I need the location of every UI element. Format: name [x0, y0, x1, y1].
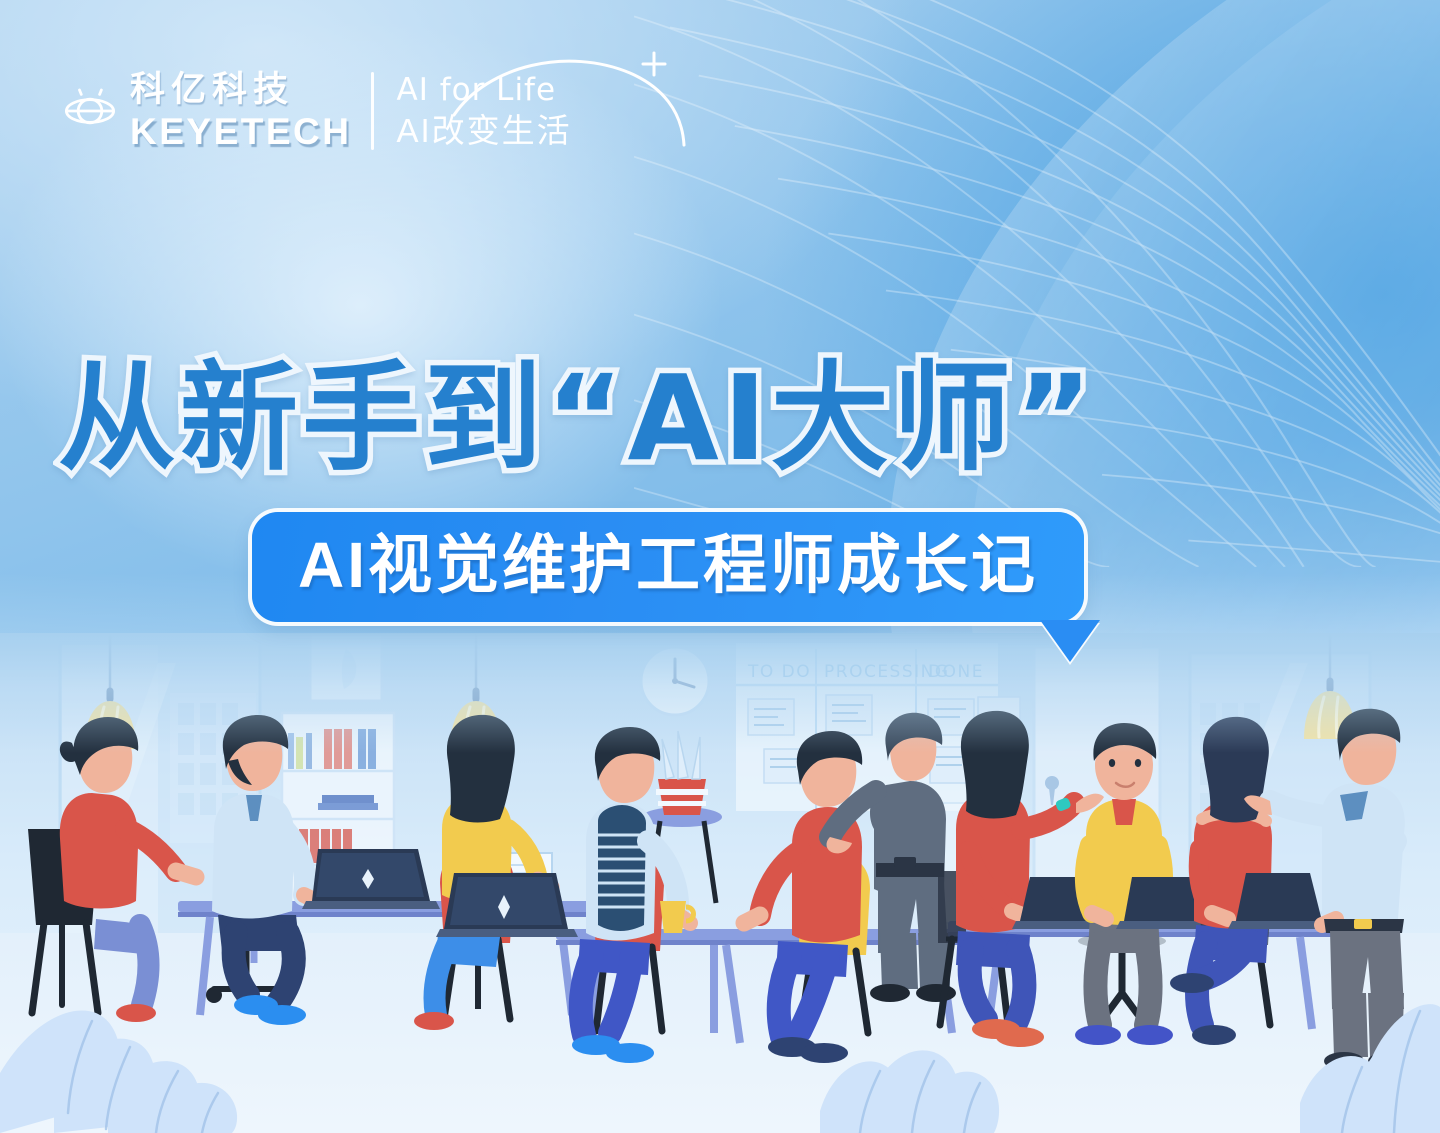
poster-canvas: 科亿科技 KEYETECH AI for Life AI改变生活 从新手到“AI…: [0, 0, 1440, 1133]
svg-text:DONE: DONE: [928, 662, 984, 682]
brand-wordmark: 科亿科技 KEYETECH: [130, 72, 351, 150]
tagline-cn: AI改变生活: [396, 113, 571, 149]
subtitle-banner-wrap: AI视觉维护工程师成长记: [252, 512, 1084, 622]
subtitle-banner-tail: [1040, 620, 1100, 662]
brand-name-en: KEYETECH: [130, 113, 351, 150]
laptop: [302, 849, 440, 909]
brand-divider: [371, 72, 374, 150]
tagline-en: AI for Life: [396, 73, 571, 107]
page-title: 从新手到“AI大师”: [58, 322, 1096, 493]
framed-picture: [310, 633, 382, 701]
svg-text:TO DO: TO DO: [747, 662, 811, 682]
brand-tagline: AI for Life AI改变生活: [396, 73, 571, 149]
brand-name-cn: 科亿科技: [130, 72, 351, 107]
subtitle-text: AI视觉维护工程师成长记: [298, 528, 1038, 604]
office-team-meeting-illustration: TO DO PROCESSING DONE: [0, 633, 1440, 1133]
brand-logo-row: 科亿科技 KEYETECH AI for Life AI改变生活: [62, 72, 572, 150]
laptop: [436, 873, 578, 937]
subtitle-banner: AI视觉维护工程师成长记: [252, 512, 1084, 622]
wall-clock: [641, 647, 709, 715]
eye-logo-icon: [62, 83, 118, 139]
